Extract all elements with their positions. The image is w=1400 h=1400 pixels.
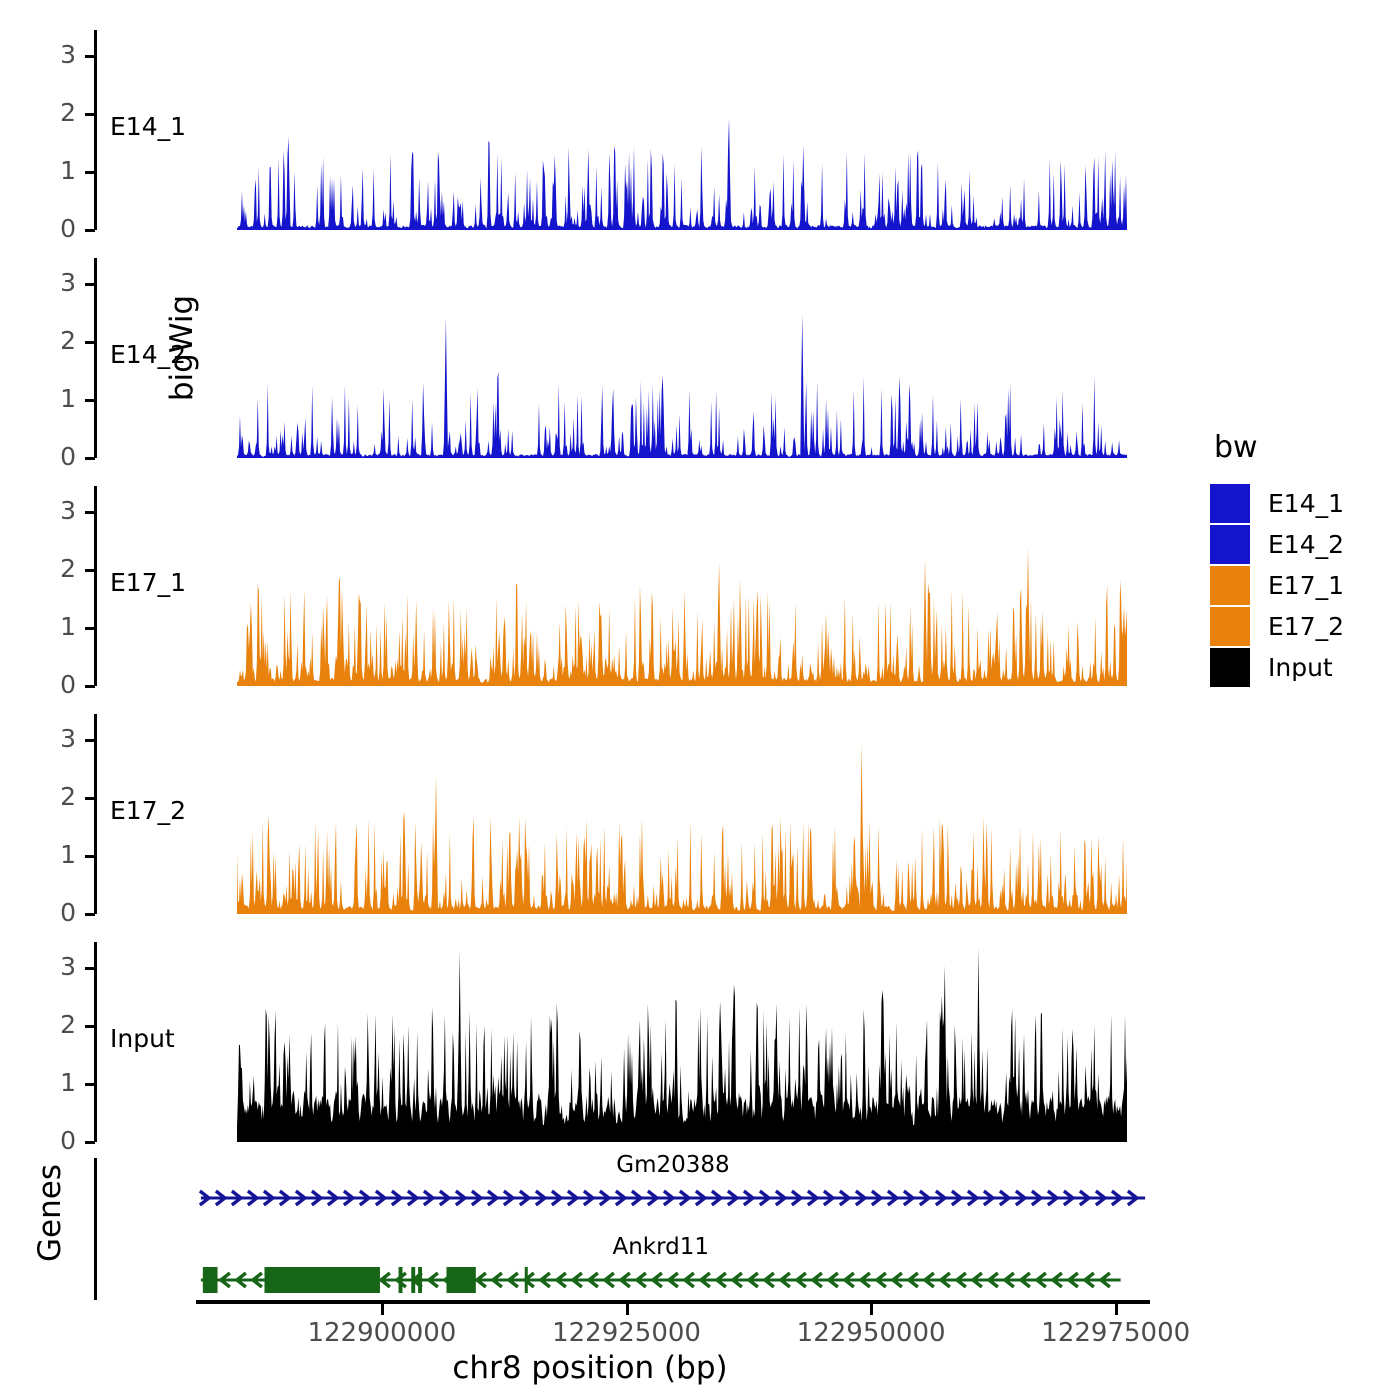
genes-svg — [0, 1158, 1180, 1300]
gene-exon — [418, 1267, 422, 1293]
signal-track-e17_2 — [0, 714, 1180, 914]
legend-swatch-e14_2 — [1210, 525, 1250, 564]
gene-exon — [411, 1267, 415, 1293]
gene-exon — [399, 1267, 403, 1293]
legend-swatch-e14_1 — [1210, 484, 1250, 523]
legend-label: E14_1 — [1268, 489, 1344, 518]
x-axis-tick-label: 122975000 — [1006, 1318, 1226, 1348]
signal-track-e14_1 — [0, 30, 1180, 230]
track-panel-e17_1: 0123E17_1 — [0, 486, 1180, 686]
gene-exon — [264, 1267, 379, 1293]
legend-swatch-e17_1 — [1210, 566, 1250, 605]
legend-item-input[interactable]: Input — [1210, 647, 1344, 688]
legend-title: bw — [1210, 430, 1344, 465]
x-axis-title: chr8 position (bp) — [0, 1350, 1180, 1386]
legend: bw E14_1E14_2E17_1E17_2Input — [1210, 430, 1344, 688]
legend-item-e14_2[interactable]: E14_2 — [1210, 524, 1344, 565]
signal-track-e17_1 — [0, 486, 1180, 686]
legend-label: E17_1 — [1268, 571, 1344, 600]
genome-browser-figure: bigWig Genes 0123E14_10123E14_20123E17_1… — [0, 0, 1400, 1400]
gene-exon — [525, 1267, 528, 1293]
gene-exon — [203, 1267, 218, 1293]
gene-exon — [446, 1267, 475, 1293]
legend-items: E14_1E14_2E17_1E17_2Input — [1210, 483, 1344, 688]
signal-track-e14_2 — [0, 258, 1180, 458]
legend-item-e17_1[interactable]: E17_1 — [1210, 565, 1344, 606]
x-axis-tick-label: 122925000 — [517, 1318, 737, 1348]
x-axis-tick — [870, 1304, 873, 1315]
track-panel-e17_2: 0123E17_2 — [0, 714, 1180, 914]
x-axis-tick — [1115, 1304, 1118, 1315]
x-axis-tick — [381, 1304, 384, 1315]
genes-panel: Gm20388Ankrd11 — [0, 1158, 1180, 1300]
legend-swatch-e17_2 — [1210, 607, 1250, 646]
legend-label: E14_2 — [1268, 530, 1344, 559]
legend-label: E17_2 — [1268, 612, 1344, 641]
legend-item-e17_2[interactable]: E17_2 — [1210, 606, 1344, 647]
x-axis-tick — [626, 1304, 629, 1315]
signal-track-input — [0, 942, 1180, 1142]
legend-item-e14_1[interactable]: E14_1 — [1210, 483, 1344, 524]
x-axis-tick-label: 122900000 — [272, 1318, 492, 1348]
legend-swatch-input — [1210, 648, 1250, 687]
track-panel-input: 0123Input — [0, 942, 1180, 1142]
track-panel-e14_1: 0123E14_1 — [0, 30, 1180, 230]
x-axis-tick-label: 122950000 — [761, 1318, 981, 1348]
legend-label: Input — [1268, 653, 1333, 682]
x-axis-line — [196, 1300, 1150, 1304]
track-panel-e14_2: 0123E14_2 — [0, 258, 1180, 458]
